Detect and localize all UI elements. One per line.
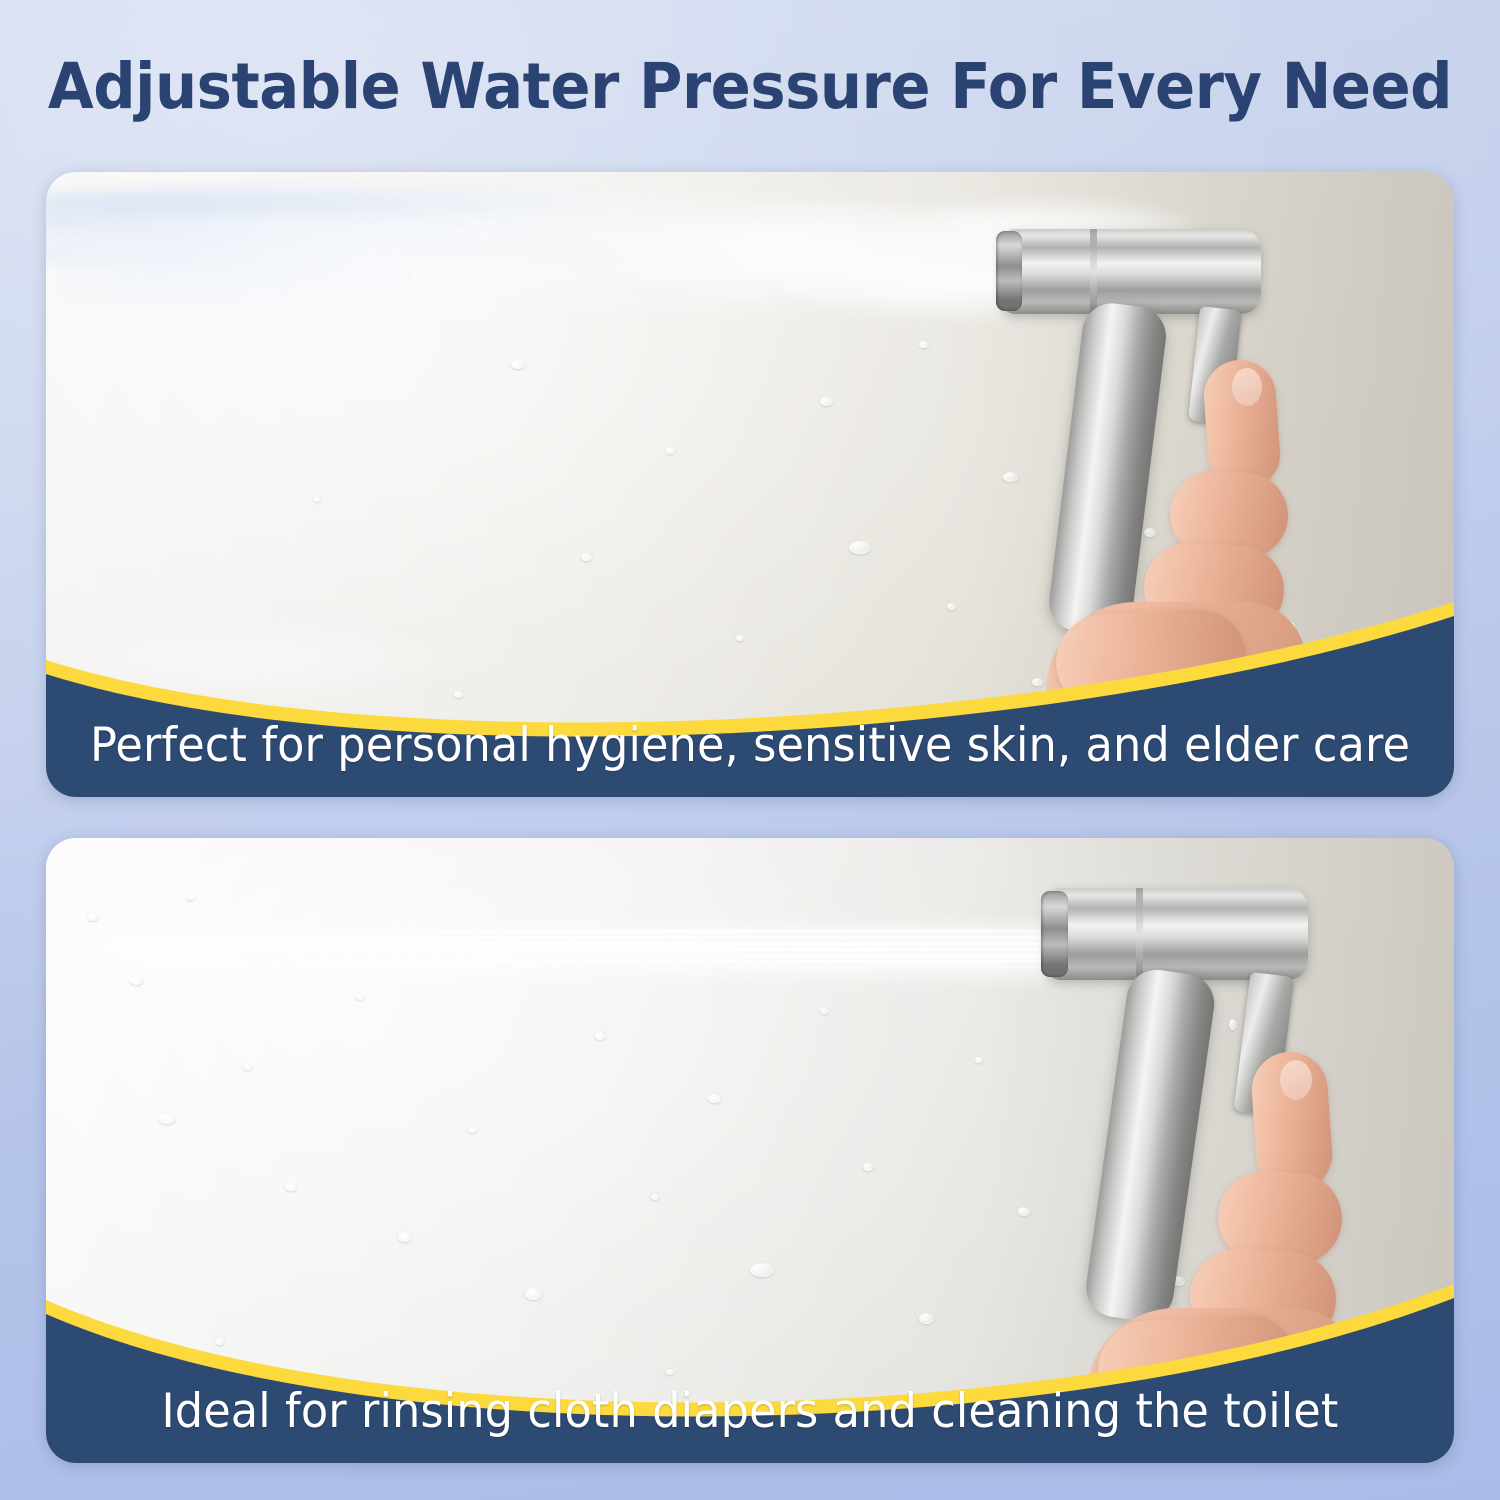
caption-text-2: Ideal for rinsing cloth diapers and clea… [81,1388,1419,1435]
caption-text-1: Perfect for personal hygiene, sensitive … [81,722,1419,769]
marketing-infographic-page: Adjustable Water Pressure For Every Need [0,0,1500,1500]
caption-banner-1: Perfect for personal hygiene, sensitive … [46,582,1454,797]
product-panel-wide-spray: Perfect for personal hygiene, sensitive … [46,172,1454,797]
caption-banner-2: Ideal for rinsing cloth diapers and clea… [46,1248,1454,1463]
product-panel-jet-spray: Ideal for rinsing cloth diapers and clea… [46,838,1454,1463]
page-title: Adjustable Water Pressure For Every Need [45,55,1455,118]
